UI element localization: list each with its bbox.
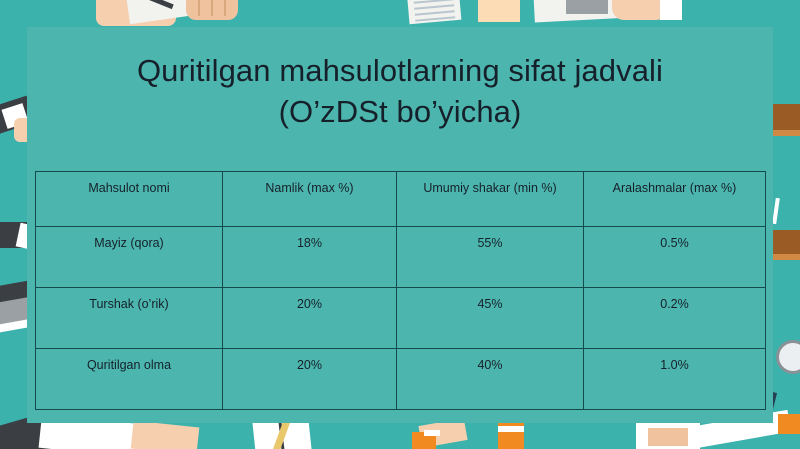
top-hand-right: [612, 0, 668, 20]
column-header-moisture: Namlik (max %): [223, 172, 397, 227]
table-row: Turshak (o’rik) 20% 45% 0.2%: [36, 288, 766, 349]
bottom-cuff-center: [424, 430, 440, 436]
right-book-upper: [770, 104, 800, 134]
quality-standards-table: Mahsulot nomi Namlik (max %) Umumiy shak…: [35, 171, 766, 410]
table-row: Quritilgan olma 20% 40% 1.0%: [36, 349, 766, 410]
top-hand-left: [96, 0, 176, 26]
top-finger-gap-3: [224, 0, 226, 16]
slide-canvas: Quritilgan mahsulotlarning sifat jadvali…: [0, 0, 800, 449]
top-document-1: [407, 0, 462, 24]
bottom-sleeve-right: [498, 422, 524, 449]
cell-impurities: 1.0%: [584, 349, 766, 410]
right-paper-middle: [772, 198, 780, 224]
top-fingers-left: [186, 0, 238, 20]
top-finger-gap-2: [211, 0, 213, 16]
top-pen-left: [140, 0, 173, 9]
top-finger-gap-1: [198, 0, 200, 16]
table-header: Mahsulot nomi Namlik (max %) Umumiy shak…: [36, 172, 766, 227]
cell-sugar: 40%: [397, 349, 584, 410]
page-title: Quritilgan mahsulotlarning sifat jadvali…: [27, 27, 773, 133]
left-notebook-page: [1, 103, 28, 129]
top-document-2: [478, 0, 520, 22]
top-paper-left: [126, 0, 191, 24]
right-clock: [776, 340, 800, 374]
cell-product: Quritilgan olma: [36, 349, 223, 410]
bottom-cuff-right: [498, 426, 524, 432]
table-row: Mayiz (qora) 18% 55% 0.5%: [36, 227, 766, 288]
cell-product: Turshak (o’rik): [36, 288, 223, 349]
bottom-laptop-screen: [648, 428, 688, 446]
cell-product: Mayiz (qora): [36, 227, 223, 288]
bottom-hand-left: [131, 421, 200, 449]
bottom-sleeve-center: [412, 432, 436, 449]
column-header-impurities: Aralashmalar (max %): [584, 172, 766, 227]
cell-impurities: 0.2%: [584, 288, 766, 349]
bottom-laptop-right: [636, 422, 700, 449]
column-header-sugar: Umumiy shakar (min %): [397, 172, 584, 227]
right-book-upper-edge: [770, 130, 800, 136]
cell-moisture: 20%: [223, 288, 397, 349]
table-header-row: Mahsulot nomi Namlik (max %) Umumiy shak…: [36, 172, 766, 227]
top-card-right: [660, 0, 682, 20]
column-header-product: Mahsulot nomi: [36, 172, 223, 227]
top-document-3: [533, 0, 631, 22]
top-device: [566, 0, 608, 14]
cell-impurities: 0.5%: [584, 227, 766, 288]
cell-sugar: 55%: [397, 227, 584, 288]
bottom-book-spine: [278, 420, 284, 449]
bottom-hand-far-right: [778, 414, 800, 434]
content-card: Quritilgan mahsulotlarning sifat jadvali…: [27, 27, 773, 423]
cell-moisture: 20%: [223, 349, 397, 410]
table-body: Mayiz (qora) 18% 55% 0.5% Turshak (o’rik…: [36, 227, 766, 410]
cell-sugar: 45%: [397, 288, 584, 349]
cell-moisture: 18%: [223, 227, 397, 288]
